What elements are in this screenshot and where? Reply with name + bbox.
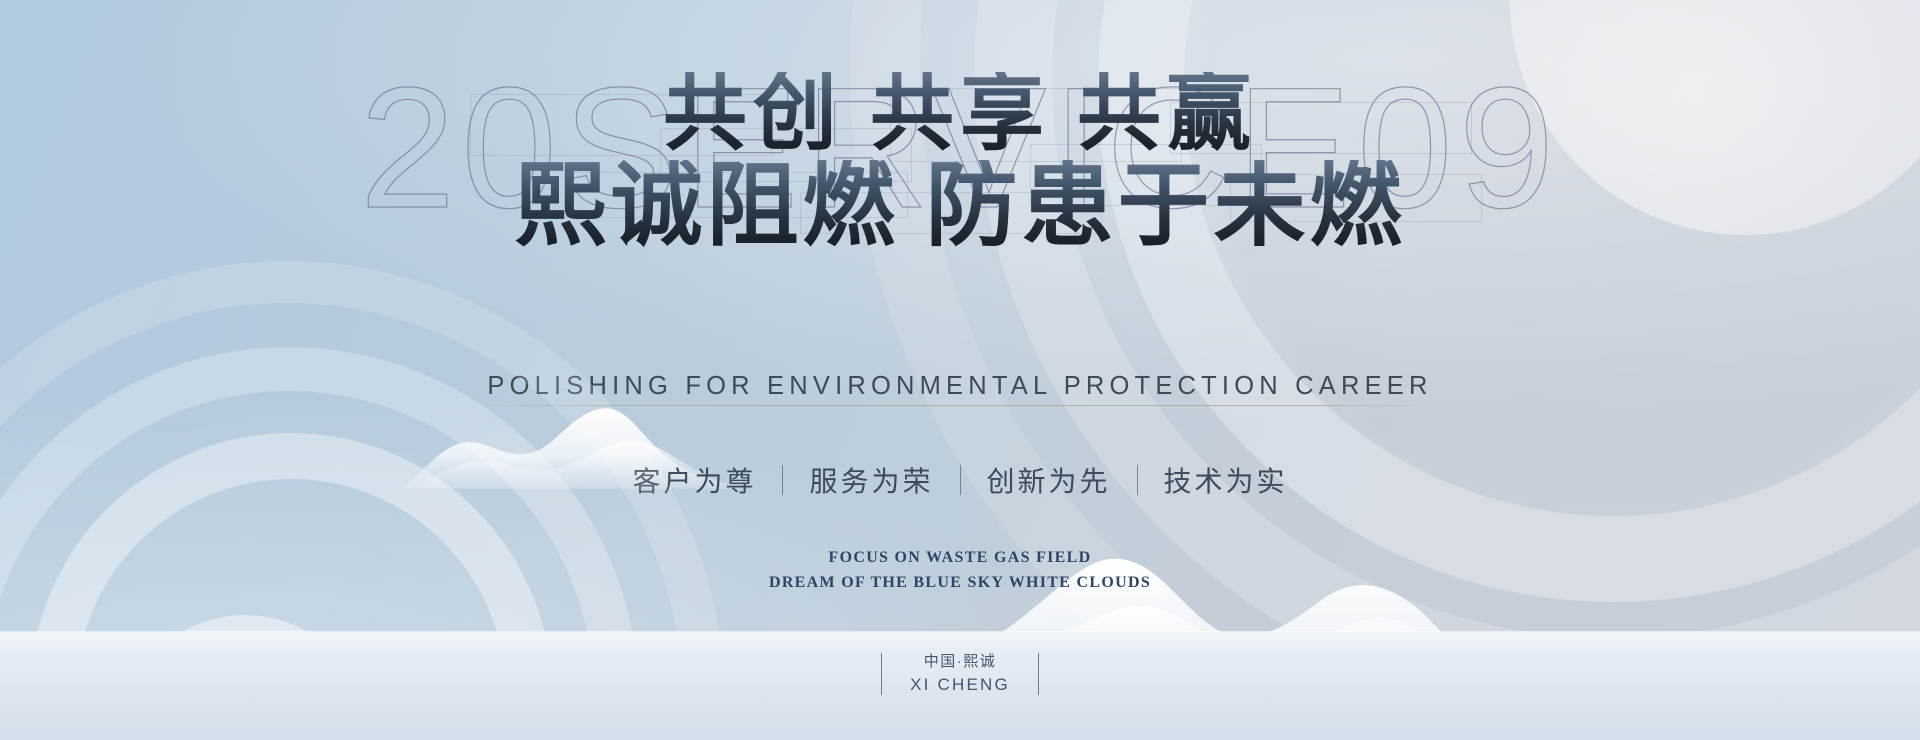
footer-brand: 中国·熙诚 XI CHENG [910,651,1010,698]
banner-hero: 20SERVICE09 共创 共享 共赢 熙诚阻燃 防患于未燃 POLISHIN… [0,0,1920,740]
value-separator-2 [960,465,961,495]
value-item-3: 创新为先 [961,460,1137,500]
headline-line-2: 熙诚阻燃 防患于未燃 [0,160,1920,254]
value-item-4: 技术为实 [1138,460,1314,500]
footer-brand-en: XI CHENG [910,673,1010,698]
value-separator-3 [1137,465,1138,495]
value-separator-1 [782,465,783,495]
value-item-2: 服务为荣 [783,460,959,500]
headline-line-1: 共创 共享 共赢 [0,72,1920,158]
subtitle-underline-rule [478,405,1433,406]
footer-logo-lockup: 中国·熙诚 XI CHENG [0,651,1920,698]
headline-block: 共创 共享 共赢 熙诚阻燃 防患于未燃 [0,72,1920,254]
footer-brand-cn: 中国·熙诚 [910,651,1010,674]
footer-bar-left [881,653,882,695]
ground-horizon-line [0,631,1920,632]
footer-bar-right [1038,653,1039,695]
